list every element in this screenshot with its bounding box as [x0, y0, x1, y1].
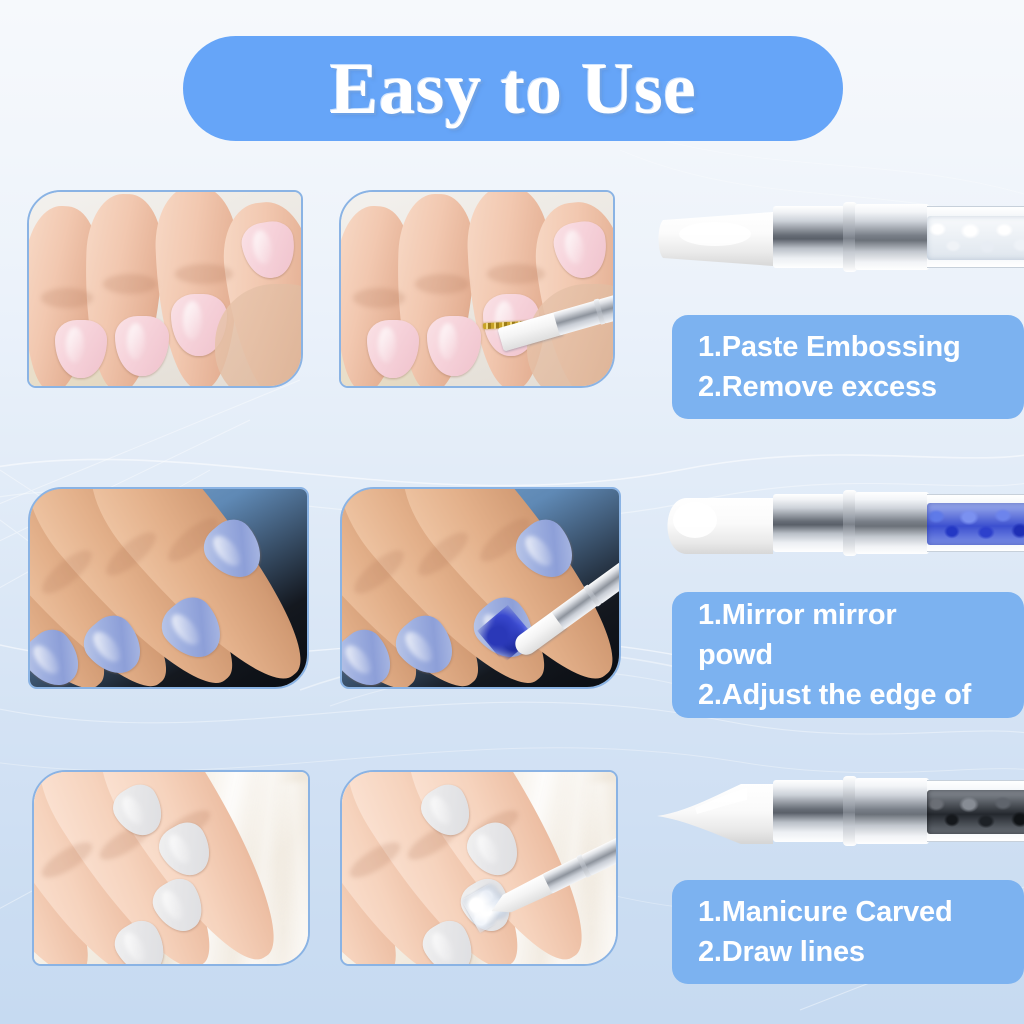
step-2-caption: 1.Mirror mirror powd 2.Adjust the edge o… — [672, 592, 1024, 718]
step-2-photo-after — [340, 487, 621, 689]
step-2-photo-before-image — [30, 489, 307, 687]
step-3-photo-after — [340, 770, 618, 966]
step-2-caption-line-2: powd — [698, 635, 1024, 675]
step-1-photo-after-image — [341, 192, 613, 386]
step-3-caption: 1.Manicure Carved 2.Draw lines — [672, 880, 1024, 984]
step-1-photo-before — [27, 190, 303, 388]
step-3-caption-line-1: 1.Manicure Carved — [698, 892, 1024, 932]
step-3-caption-line-2: 2.Draw lines — [698, 932, 1024, 972]
header-banner: Easy to Use — [183, 36, 843, 141]
step-1-photo-after — [339, 190, 615, 388]
page-title: Easy to Use — [330, 52, 696, 125]
step-3-photo-before — [32, 770, 310, 966]
step-2-product-pen — [655, 486, 1024, 566]
step-1-caption: 1.Paste Embossing 2.Remove excess — [672, 315, 1024, 419]
step-3-photo-after-image — [342, 772, 616, 964]
step-2-caption-line-3: 2.Adjust the edge of — [698, 675, 1024, 715]
step-1-photo-before-image — [29, 192, 301, 386]
pen-tip-round-icon — [655, 492, 785, 560]
step-1-caption-line-1: 1.Paste Embossing — [698, 327, 1024, 367]
step-3-photo-before-image — [34, 772, 308, 964]
pen-tip-pointed-icon — [655, 778, 785, 850]
pen-tip-chisel-icon — [655, 204, 785, 274]
step-2-photo-after-image — [342, 489, 619, 687]
step-1-product-pen — [655, 196, 1024, 282]
step-3-product-pen — [655, 772, 1024, 858]
step-1-caption-line-2: 2.Remove excess — [698, 367, 1024, 407]
step-2-caption-line-1: 1.Mirror mirror — [698, 595, 1024, 635]
step-2-photo-before — [28, 487, 309, 689]
